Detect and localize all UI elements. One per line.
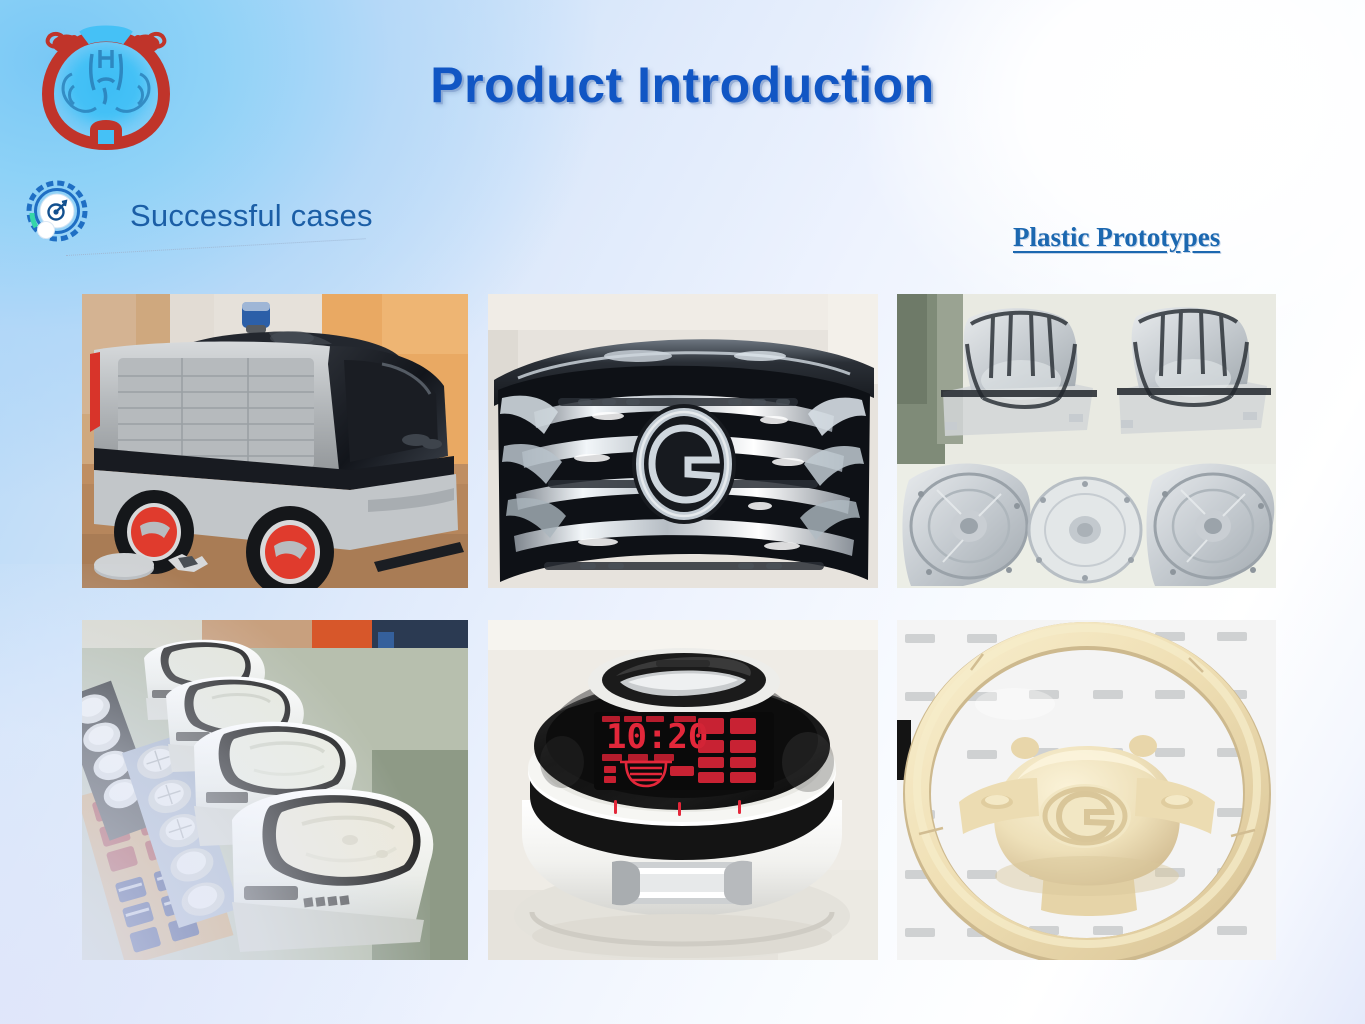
photo-transparent-housings bbox=[897, 294, 1276, 588]
photo-car-front-grille bbox=[488, 294, 878, 588]
section-label-plastic-prototypes: Plastic Prototypes bbox=[1013, 222, 1220, 253]
section-heading-successful-cases: Successful cases bbox=[14, 180, 574, 280]
page-title: Product Introduction bbox=[0, 56, 1365, 114]
photo-appliance-shells-and-parts bbox=[82, 620, 468, 960]
gallery-item-steering-wheel[interactable] bbox=[897, 620, 1276, 960]
gallery-item-appliance-shells[interactable] bbox=[82, 620, 468, 960]
gallery-item-transparent-housings[interactable] bbox=[897, 294, 1276, 588]
gallery-item-car-front-grille[interactable] bbox=[488, 294, 878, 588]
target-ring-icon bbox=[26, 180, 88, 242]
gallery-item-autonomous-delivery-vehicle[interactable] bbox=[82, 294, 468, 588]
photo-rice-cooker: 10:20 bbox=[488, 620, 878, 960]
slide-canvas: Product Introduction Successful cases Pl… bbox=[0, 0, 1365, 1024]
cooker-display-time: 10:20 bbox=[606, 717, 708, 757]
photo-steering-wheel bbox=[897, 620, 1276, 960]
photo-autonomous-delivery-vehicle bbox=[82, 294, 468, 588]
gallery-item-rice-cooker[interactable]: 10:20 bbox=[488, 620, 878, 960]
photo-gallery: 10:20 bbox=[82, 294, 1276, 960]
